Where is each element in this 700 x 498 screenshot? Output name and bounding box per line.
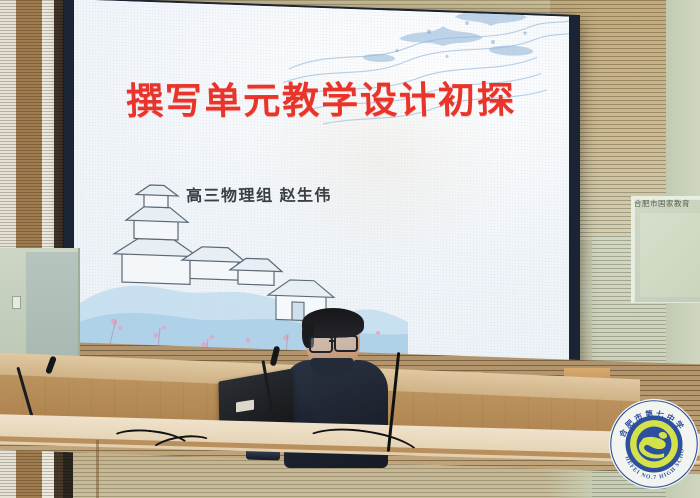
lecture-hall-photo: 合肥市国家教育 [0, 0, 700, 498]
glasses-lens-right [334, 335, 358, 352]
jacket-collar [310, 358, 354, 376]
school-emblem-icon: 合肥市第七中学 HEFEI NO.7 HIGH SCHOOL [608, 398, 700, 490]
wall-sign-label: 合肥市国家教育 [634, 198, 700, 209]
wall-sign-plaque [631, 196, 700, 303]
slide-title: 撰写单元教学设计初探 [125, 69, 527, 124]
slide-subtitle: 高三物理组 赵生伟 [186, 182, 333, 207]
side-door-panel [26, 252, 78, 370]
desk-panel-seam [96, 440, 99, 498]
wall-sign-inner [640, 213, 700, 297]
glasses-lens-left [309, 336, 333, 353]
glasses-bridge [329, 340, 335, 342]
door-knob [12, 296, 21, 309]
